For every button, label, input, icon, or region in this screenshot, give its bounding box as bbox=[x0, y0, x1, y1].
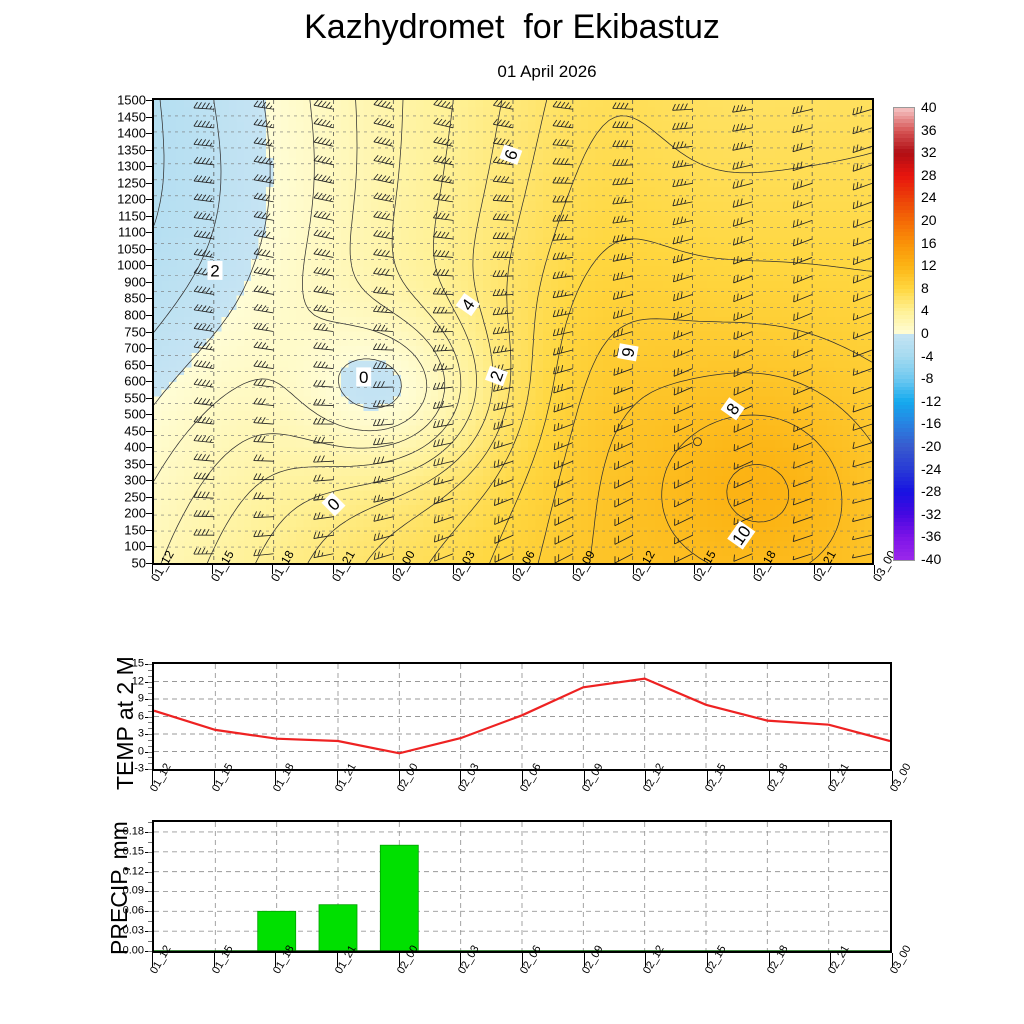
precip-y-tick-label: 0.12 bbox=[100, 866, 144, 877]
precip-y-tick-label: 0.15 bbox=[100, 846, 144, 857]
main-y-tick bbox=[146, 298, 152, 299]
precip-y-tick-label: 0.06 bbox=[100, 906, 144, 917]
main-y-tick bbox=[146, 117, 152, 118]
main-y-tick bbox=[146, 546, 152, 547]
temperature-cross-section-plot: 2642009810 bbox=[152, 98, 874, 565]
colorbar-tick-label: -28 bbox=[921, 483, 941, 499]
main-y-tick-label: 1300 bbox=[98, 160, 146, 173]
main-y-tick bbox=[146, 513, 152, 514]
main-y-tick-label: 400 bbox=[98, 441, 146, 454]
temp-y-minor-tick bbox=[148, 746, 152, 747]
temp-y-minor-tick bbox=[148, 693, 152, 694]
main-y-tick bbox=[146, 249, 152, 250]
temp-y-minor-tick bbox=[148, 752, 152, 753]
colorbar-tick-label: 20 bbox=[921, 212, 937, 228]
main-y-tick bbox=[146, 530, 152, 531]
main-y-tick-label: 900 bbox=[98, 275, 146, 288]
main-y-tick bbox=[146, 332, 152, 333]
precip-y-minor-tick bbox=[148, 842, 152, 843]
precip-y-minor-tick bbox=[148, 951, 152, 952]
precip-y-tick-label: 0.18 bbox=[100, 826, 144, 837]
main-y-tick bbox=[146, 150, 152, 151]
main-y-tick-label: 150 bbox=[98, 523, 146, 536]
colorbar-tick-label: -16 bbox=[921, 415, 941, 431]
temp-y-minor-tick bbox=[148, 699, 152, 700]
main-y-tick bbox=[146, 216, 152, 217]
main-y-tick-label: 500 bbox=[98, 408, 146, 421]
colorbar bbox=[893, 107, 915, 561]
temp-y-minor-tick bbox=[148, 670, 152, 671]
temp-y-minor-tick bbox=[148, 757, 152, 758]
precip-bar-svg bbox=[154, 822, 890, 951]
temp-line-svg bbox=[154, 664, 890, 769]
main-y-tick bbox=[146, 100, 152, 101]
main-y-tick bbox=[146, 315, 152, 316]
main-y-tick bbox=[146, 265, 152, 266]
main-y-tick-label: 250 bbox=[98, 490, 146, 503]
precip-bar bbox=[380, 845, 418, 951]
colorbar-tick-label: 8 bbox=[921, 280, 929, 296]
colorbar-tick-label: 40 bbox=[921, 99, 937, 115]
main-y-tick-label: 1100 bbox=[98, 226, 146, 239]
temp-y-minor-tick bbox=[148, 676, 152, 677]
colorbar-tick-label: -4 bbox=[921, 348, 933, 364]
temp-y-tick-label: 0 bbox=[110, 746, 144, 757]
main-y-tick-label: 1250 bbox=[98, 176, 146, 189]
main-y-tick-label: 350 bbox=[98, 457, 146, 470]
main-y-tick-label: 1050 bbox=[98, 242, 146, 255]
colorbar-tick-label: 4 bbox=[921, 302, 929, 318]
main-y-tick-label: 700 bbox=[98, 342, 146, 355]
precip-y-tick-label: 0.09 bbox=[100, 886, 144, 897]
temp-y-minor-tick bbox=[148, 728, 152, 729]
main-y-tick-label: 1450 bbox=[98, 110, 146, 123]
precip-bar bbox=[319, 905, 357, 951]
precipitation-plot bbox=[152, 820, 892, 953]
main-y-tick bbox=[146, 282, 152, 283]
main-y-tick bbox=[146, 464, 152, 465]
main-y-tick bbox=[146, 563, 152, 564]
colorbar-tick-label: -8 bbox=[921, 370, 933, 386]
main-y-tick bbox=[146, 414, 152, 415]
main-y-tick-label: 450 bbox=[98, 424, 146, 437]
precip-y-minor-tick bbox=[148, 931, 152, 932]
main-y-tick bbox=[146, 398, 152, 399]
precip-y-minor-tick bbox=[148, 872, 152, 873]
main-y-tick bbox=[146, 348, 152, 349]
contour-svg: 2642009810 bbox=[154, 100, 872, 563]
precip-y-minor-tick bbox=[148, 911, 152, 912]
temp-y-minor-tick bbox=[148, 682, 152, 683]
temp-y-tick-label: 6 bbox=[110, 711, 144, 722]
temp-y-minor-tick bbox=[148, 769, 152, 770]
precip-y-tick-label: 0.03 bbox=[100, 926, 144, 937]
colorbar-tick-label: 16 bbox=[921, 235, 937, 251]
main-y-tick-label: 300 bbox=[98, 474, 146, 487]
main-y-tick bbox=[146, 166, 152, 167]
temp-y-minor-tick bbox=[148, 664, 152, 665]
colorbar-tick-label: -12 bbox=[921, 393, 941, 409]
main-y-tick-label: 1150 bbox=[98, 209, 146, 222]
main-y-tick bbox=[146, 381, 152, 382]
temp-y-minor-tick bbox=[148, 722, 152, 723]
precip-y-minor-tick bbox=[148, 901, 152, 902]
temp-y-minor-tick bbox=[148, 763, 152, 764]
main-y-tick-label: 650 bbox=[98, 358, 146, 371]
colorbar-tick-label: 32 bbox=[921, 144, 937, 160]
temp-y-minor-tick bbox=[148, 734, 152, 735]
precip-y-minor-tick bbox=[148, 882, 152, 883]
page-title: Kazhydromet for Ekibastuz bbox=[0, 8, 1024, 47]
main-y-tick-label: 200 bbox=[98, 507, 146, 520]
temp-y-minor-tick bbox=[148, 717, 152, 718]
colorbar-tick-label: -24 bbox=[921, 461, 941, 477]
temp-y-minor-tick bbox=[148, 705, 152, 706]
main-y-tick bbox=[146, 497, 152, 498]
main-y-tick bbox=[146, 183, 152, 184]
precip-y-minor-tick bbox=[148, 862, 152, 863]
precip-y-minor-tick bbox=[148, 941, 152, 942]
main-y-tick-label: 550 bbox=[98, 391, 146, 404]
colorbar-tick-label: -20 bbox=[921, 438, 941, 454]
main-y-tick bbox=[146, 133, 152, 134]
temp-grid bbox=[154, 664, 890, 769]
temp-y-tick-label: -3 bbox=[110, 764, 144, 775]
main-y-tick-label: 50 bbox=[98, 557, 146, 570]
main-y-tick-label: 600 bbox=[98, 375, 146, 388]
main-y-tick bbox=[146, 232, 152, 233]
colorbar-tick-label: -40 bbox=[921, 551, 941, 567]
colorbar-tick-label: -32 bbox=[921, 506, 941, 522]
colorbar-tick-label: 24 bbox=[921, 189, 937, 205]
main-y-tick-label: 750 bbox=[98, 325, 146, 338]
temp-y-tick-label: 9 bbox=[110, 694, 144, 705]
main-y-tick-label: 1400 bbox=[98, 127, 146, 140]
colorbar-tick-label: -36 bbox=[921, 528, 941, 544]
precip-y-minor-tick bbox=[148, 891, 152, 892]
main-y-tick-label: 800 bbox=[98, 308, 146, 321]
precip-y-minor-tick bbox=[148, 852, 152, 853]
page-subtitle: 01 April 2026 bbox=[0, 62, 1024, 82]
colorbar-tick-label: 36 bbox=[921, 122, 937, 138]
precip-y-minor-tick bbox=[148, 832, 152, 833]
precip-y-tick-label: 0.00 bbox=[100, 946, 144, 957]
precip-y-minor-tick bbox=[148, 921, 152, 922]
colorbar-cell bbox=[894, 556, 914, 560]
main-y-tick bbox=[146, 431, 152, 432]
main-y-tick-label: 850 bbox=[98, 292, 146, 305]
main-y-tick-label: 1500 bbox=[98, 94, 146, 107]
temp-series-line bbox=[154, 679, 890, 754]
main-y-tick-label: 1200 bbox=[98, 193, 146, 206]
temp-y-tick-label: 12 bbox=[110, 676, 144, 687]
main-y-tick-label: 1350 bbox=[98, 143, 146, 156]
main-y-tick bbox=[146, 480, 152, 481]
temp-y-tick-label: 3 bbox=[110, 729, 144, 740]
temp-y-minor-tick bbox=[148, 687, 152, 688]
colorbar-tick-label: 12 bbox=[921, 257, 937, 273]
main-y-tick bbox=[146, 199, 152, 200]
main-y-tick-label: 100 bbox=[98, 540, 146, 553]
colorbar-tick-label: 28 bbox=[921, 167, 937, 183]
colorbar-tick-label: 0 bbox=[921, 325, 929, 341]
temp-y-minor-tick bbox=[148, 740, 152, 741]
temp-at-2m-plot bbox=[152, 662, 892, 771]
main-y-tick-label: 1000 bbox=[98, 259, 146, 272]
precip-y-minor-tick bbox=[148, 822, 152, 823]
main-y-tick bbox=[146, 447, 152, 448]
temp-y-minor-tick bbox=[148, 711, 152, 712]
main-y-tick bbox=[146, 365, 152, 366]
temp-y-tick-label: 15 bbox=[110, 659, 144, 670]
